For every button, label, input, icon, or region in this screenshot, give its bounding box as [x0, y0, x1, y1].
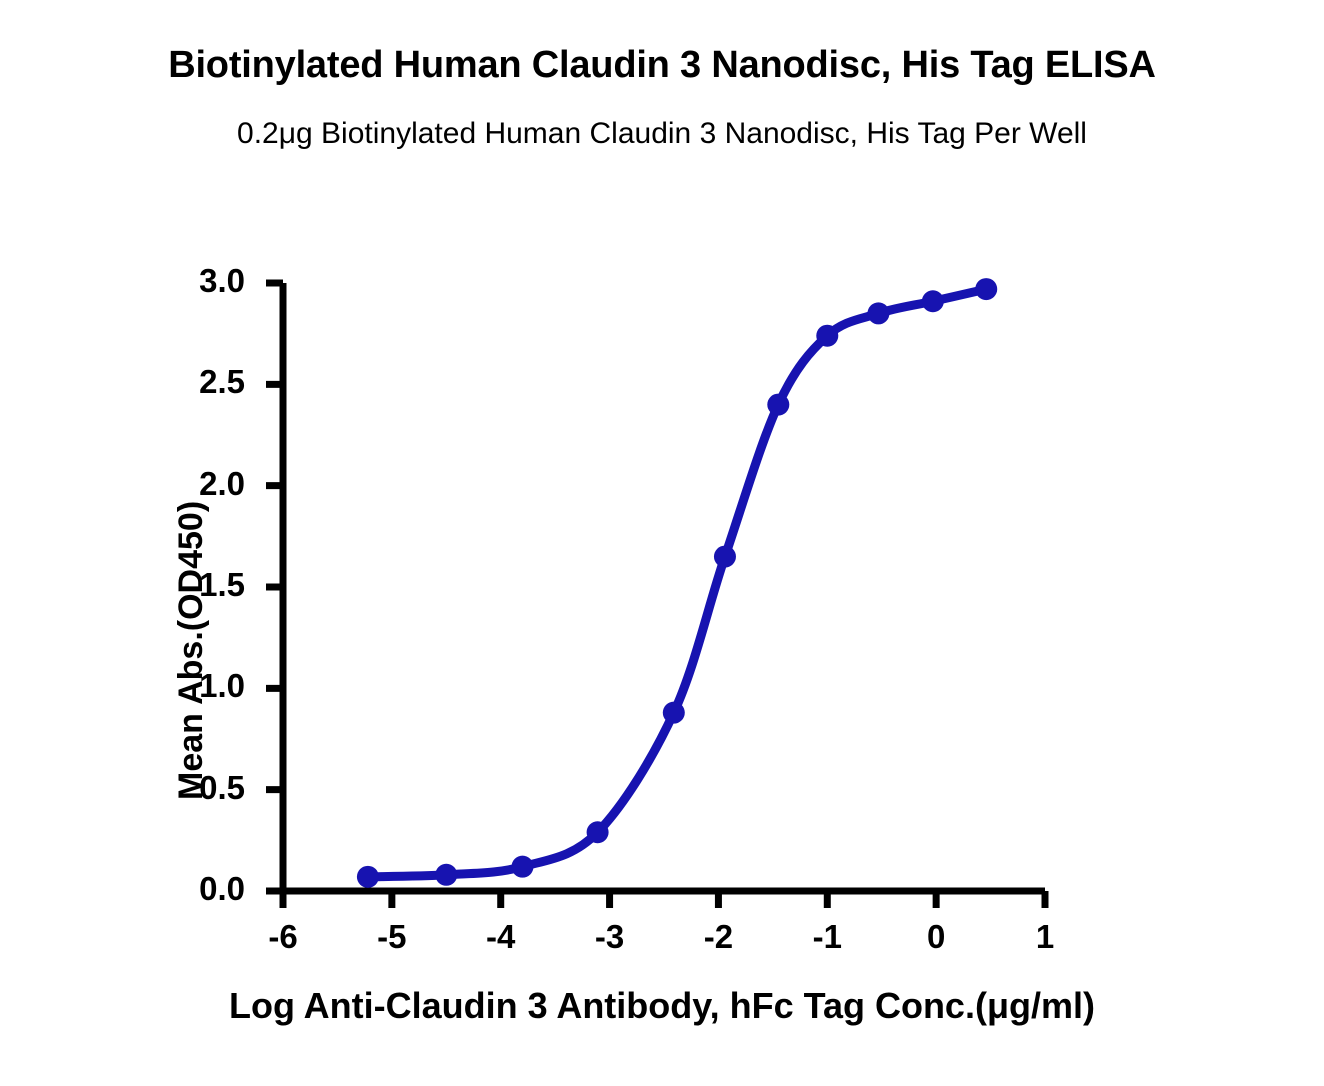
x-tick-label: 1 [1015, 918, 1075, 956]
y-tick-label: 0.0 [155, 870, 245, 908]
elisa-chart-figure: Biotinylated Human Claudin 3 Nanodisc, H… [0, 0, 1324, 1086]
x-tick-label: 0 [906, 918, 966, 956]
y-tick-label: 3.0 [155, 262, 245, 300]
x-tick-label: -4 [471, 918, 531, 956]
x-tick-label: -1 [797, 918, 857, 956]
x-tick-label: -2 [688, 918, 748, 956]
y-tick-label: 2.0 [155, 465, 245, 503]
tick-label-layer: -6-5-4-3-2-1010.00.51.01.52.02.53.0 [0, 0, 1324, 1086]
y-tick-label: 2.5 [155, 363, 245, 401]
x-tick-label: -5 [362, 918, 422, 956]
x-tick-label: -3 [580, 918, 640, 956]
y-tick-label: 0.5 [155, 769, 245, 807]
y-tick-label: 1.0 [155, 667, 245, 705]
x-tick-label: -6 [253, 918, 313, 956]
y-tick-label: 1.5 [155, 566, 245, 604]
